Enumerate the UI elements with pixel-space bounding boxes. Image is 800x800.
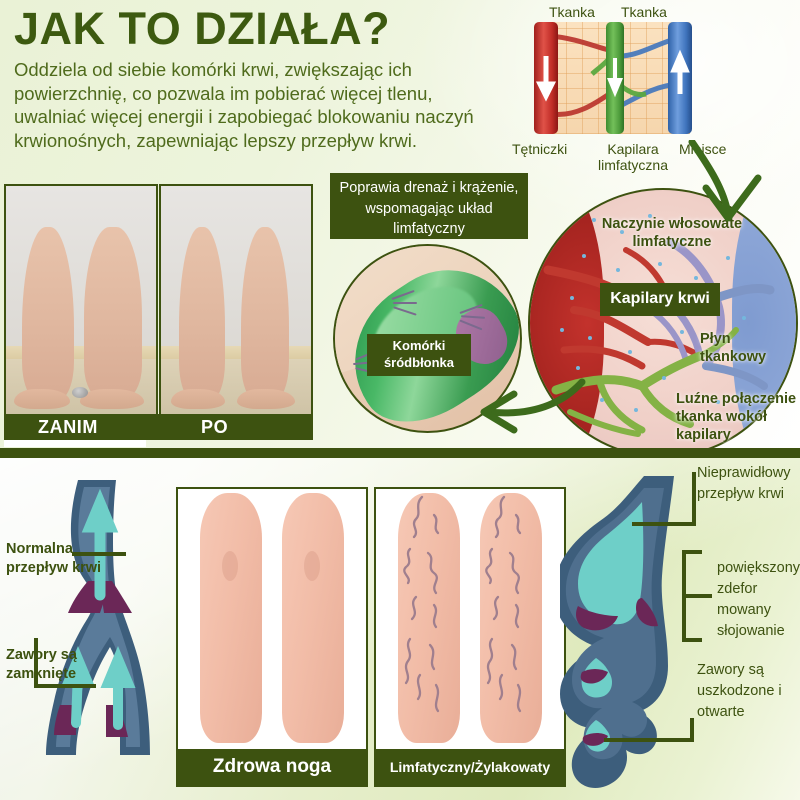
foot-left (171, 389, 225, 410)
tissue-label-right: Tkanka (621, 4, 667, 20)
damaged-valves-label: Zawory są uszkodzone i otwarte (697, 660, 797, 723)
enlarged-deformed-label: powiększony zdefor mowany słojowanie (717, 558, 800, 642)
photo-after (159, 184, 313, 416)
before-after-photos: ZANIM PO (4, 184, 313, 438)
healthy-leg-caption-bar: Zdrowa noga (178, 749, 366, 785)
infographic-root: JAK TO DZIAŁA? Oddziela od siebie komórk… (0, 0, 800, 800)
floor-drain (72, 387, 88, 398)
after-label: PO (201, 417, 228, 438)
closed-valves-label: Zawory są zamknięte (6, 646, 114, 684)
page-title: JAK TO DZIAŁA? (14, 6, 390, 51)
anchoring-filament-icon (393, 302, 417, 304)
leg-normal-left (179, 227, 225, 400)
abnormal-flow-label: Nieprawidłowy przepływ krwi (697, 463, 799, 505)
healthy-leg-caption: Zdrowa noga (213, 756, 331, 778)
leg-swollen-left (22, 227, 74, 400)
normal-flow-label: Normalna przepływ krwi (6, 540, 116, 578)
healthy-leg-left (200, 493, 262, 743)
lymph-capillary-tube (606, 22, 624, 134)
tissue-label-left: Tkanka (549, 4, 595, 20)
varicose-leg-caption-bar: Limfatyczny/Żylakowaty (376, 749, 564, 785)
loose-connection-label: Luźne połączenie tkanka wokół kapilary (676, 390, 800, 444)
arteriole-label: Tętniczki (512, 141, 567, 157)
venule-tube (668, 22, 692, 134)
tissue-vessel-diagram (528, 22, 712, 134)
varicose-leg-caption: Limfatyczny/Żylakowaty (390, 759, 550, 775)
varicose-leg-panel: Limfatyczny/Żylakowaty (374, 487, 566, 787)
normal-vein-diagram (0, 455, 176, 800)
foot-right (237, 389, 295, 410)
before-label: ZANIM (38, 417, 98, 438)
normal-vein-graphic (0, 455, 176, 800)
leg-normal-right (241, 227, 289, 400)
healthy-leg-panel: Zdrowa noga (176, 487, 368, 787)
drainage-banner: Poprawia drenaż i krążenie, wspomagając … (330, 173, 528, 239)
venule-label: Miejsce (679, 141, 726, 157)
foot-right (80, 389, 144, 410)
arteriole-tube (534, 22, 558, 134)
intro-paragraph: Oddziela od siebie komórki krwi, zwiększ… (14, 58, 484, 153)
varicose-veins-overlay (376, 489, 564, 749)
lymph-capillary-label: Kapilara limfatyczna (594, 141, 672, 173)
knee-marking (222, 551, 238, 581)
lymph-vessel-label: Naczynie włosowate limfatyczne (572, 215, 772, 251)
photo-before (4, 184, 158, 416)
healthy-leg-right (282, 493, 344, 743)
leg-swollen-right (84, 227, 142, 400)
blood-capillaries-tag: Kapilary krwi (600, 283, 720, 316)
white-accent-bar (4, 440, 146, 447)
photo-label-bar: ZANIM PO (4, 414, 313, 440)
tissue-fluid-label: Płyn tkankowy (700, 330, 794, 366)
foot-left (14, 389, 70, 410)
knee-marking (304, 551, 320, 581)
endothelium-tag: Komórki śródbłonka (367, 334, 471, 376)
